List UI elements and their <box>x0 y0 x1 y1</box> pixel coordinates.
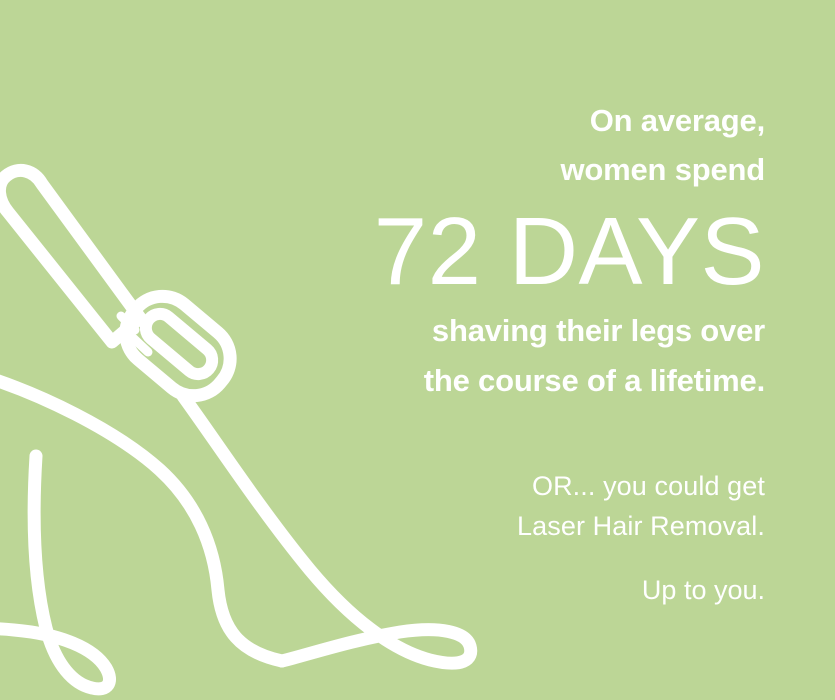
cta-line-1: OR... you could get <box>245 466 765 506</box>
stat-number: 72 <box>374 198 482 305</box>
razor-illustration <box>0 170 244 409</box>
cta-line-2: Laser Hair Removal. <box>245 506 765 546</box>
razor-handle <box>0 170 140 342</box>
lead-line-2: women spend <box>245 145 765 194</box>
stat-unit: DAYS <box>509 198 765 305</box>
cta-block: OR... you could get Laser Hair Removal. <box>245 466 765 546</box>
closing-line: Up to you. <box>245 570 765 610</box>
lead-line-1: On average, <box>245 96 765 145</box>
razor-neck-dash-2 <box>131 336 148 352</box>
razor-neck-dash-1 <box>121 316 135 330</box>
second-leg-line <box>0 456 110 689</box>
razor-head-outer <box>112 282 244 409</box>
headline-block: On average, women spend 72 DAYS shaving … <box>245 96 765 406</box>
body-line-1: shaving their legs over <box>245 306 765 356</box>
body-line-2: the course of a lifetime. <box>245 356 765 406</box>
stat-headline: 72 DAYS <box>245 200 765 304</box>
razor-head-blade <box>140 308 218 380</box>
promo-poster: On average, women spend 72 DAYS shaving … <box>0 0 835 700</box>
calf-back-line <box>0 372 282 661</box>
